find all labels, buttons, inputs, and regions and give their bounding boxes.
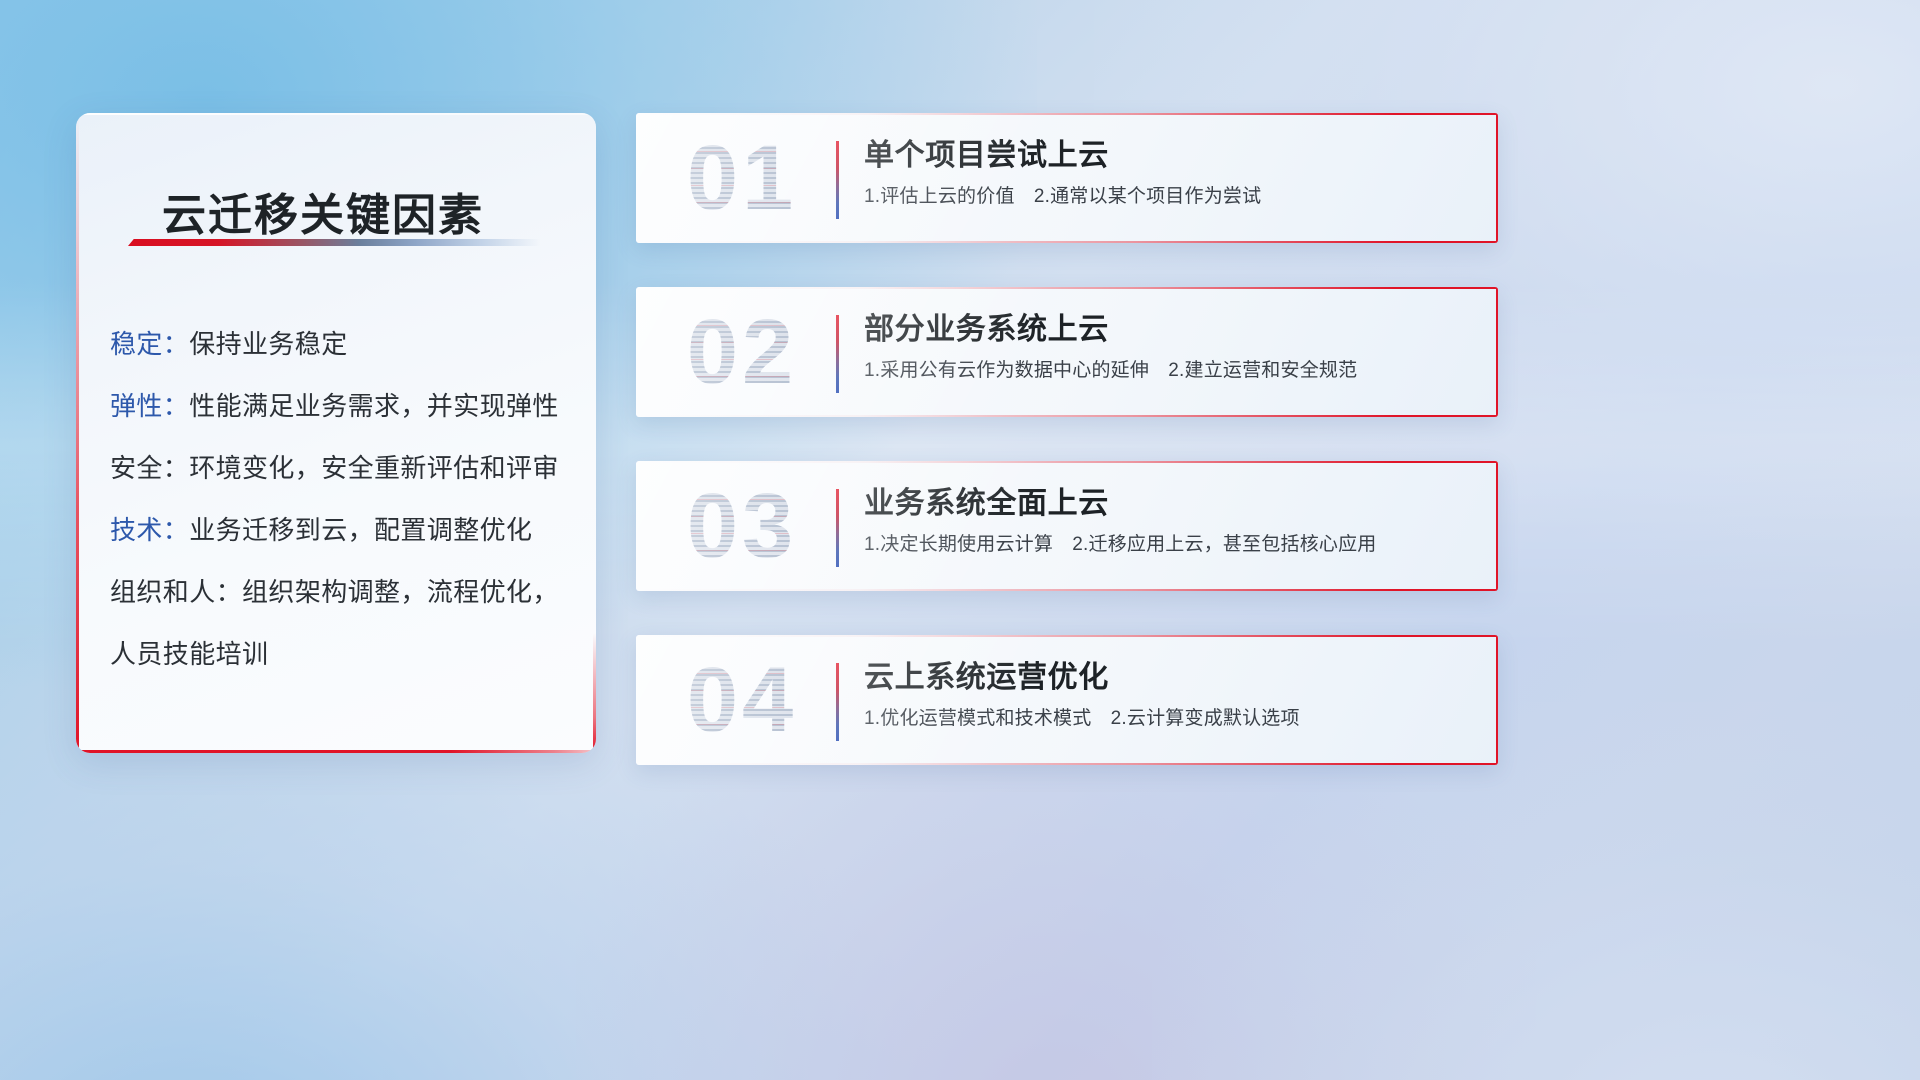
step-card-top-accent bbox=[636, 113, 1498, 115]
step-description: 1.评估上云的价值 2.通常以某个项目作为尝试 bbox=[864, 183, 1478, 211]
slide-stage: 云迁移关键因素 稳定：保持业务稳定弹性：性能满足业务需求，并实现弹性安全：环境变… bbox=[0, 0, 1920, 1080]
key-factor-row: 技术：业务迁移到云，配置调整优化 bbox=[110, 499, 572, 561]
step-description: 1.决定长期使用云计算 2.迁移应用上云，甚至包括核心应用 bbox=[864, 531, 1478, 559]
step-card-top-accent bbox=[636, 635, 1498, 637]
step-text-block: 业务系统全面上云1.决定长期使用云计算 2.迁移应用上云，甚至包括核心应用 bbox=[864, 483, 1478, 559]
step-title: 单个项目尝试上云 bbox=[864, 135, 1478, 177]
panel-right-accent-border bbox=[593, 633, 596, 753]
step-divider-bar bbox=[836, 315, 839, 393]
key-factor-label: 稳定： bbox=[110, 329, 189, 359]
step-card-right-accent bbox=[1496, 287, 1498, 417]
step-number-watermark: 01 bbox=[654, 117, 830, 239]
step-card-bottom-accent bbox=[636, 415, 1498, 417]
migration-step-card[interactable]: 0101单个项目尝试上云1.评估上云的价值 2.通常以某个项目作为尝试 bbox=[636, 113, 1498, 243]
panel-left-accent-border bbox=[76, 113, 79, 753]
panel-top-highlight bbox=[76, 113, 596, 115]
key-factor-text: 人员技能培训 bbox=[110, 639, 268, 669]
key-factors-panel: 云迁移关键因素 稳定：保持业务稳定弹性：性能满足业务需求，并实现弹性安全：环境变… bbox=[76, 113, 596, 753]
step-divider-bar bbox=[836, 489, 839, 567]
key-factor-text: 性能满足业务需求，并实现弹性 bbox=[189, 391, 559, 421]
step-divider-bar bbox=[836, 141, 839, 219]
step-card-top-accent bbox=[636, 461, 1498, 463]
step-text-block: 部分业务系统上云1.采用公有云作为数据中心的延伸 2.建立运营和安全规范 bbox=[864, 309, 1478, 385]
step-card-bottom-accent bbox=[636, 589, 1498, 591]
migration-step-card[interactable]: 0404云上系统运营优化1.优化运营模式和技术模式 2.云计算变成默认选项 bbox=[636, 635, 1498, 765]
step-card-bottom-accent bbox=[636, 241, 1498, 243]
key-factor-label: 组织和人： bbox=[110, 577, 242, 607]
step-title: 业务系统全面上云 bbox=[864, 483, 1478, 525]
step-card-right-accent bbox=[1496, 461, 1498, 591]
key-factor-text: 保持业务稳定 bbox=[189, 329, 347, 359]
migration-steps-list: 0101单个项目尝试上云1.评估上云的价值 2.通常以某个项目作为尝试0202部… bbox=[636, 113, 1498, 765]
key-factor-text: 业务迁移到云，配置调整优化 bbox=[189, 515, 532, 545]
step-description: 1.优化运营模式和技术模式 2.云计算变成默认选项 bbox=[864, 705, 1478, 733]
step-number-watermark: 04 bbox=[654, 639, 830, 761]
step-title: 云上系统运营优化 bbox=[864, 657, 1478, 699]
key-factor-row: 人员技能培训 bbox=[110, 623, 572, 685]
step-card-top-accent bbox=[636, 287, 1498, 289]
step-card-right-accent bbox=[1496, 635, 1498, 765]
key-factor-label: 弹性： bbox=[110, 391, 189, 421]
step-divider-bar bbox=[836, 663, 839, 741]
key-factor-text: 组织架构调整，流程优化， bbox=[242, 577, 559, 607]
page-title: 云迁移关键因素 bbox=[162, 179, 484, 243]
key-factor-row: 稳定：保持业务稳定 bbox=[110, 313, 572, 375]
key-factor-row: 弹性：性能满足业务需求，并实现弹性 bbox=[110, 375, 572, 437]
step-text-block: 单个项目尝试上云1.评估上云的价值 2.通常以某个项目作为尝试 bbox=[864, 135, 1478, 211]
key-factor-label: 安全： bbox=[110, 453, 189, 483]
step-card-right-accent bbox=[1496, 113, 1498, 243]
key-factor-text: 环境变化，安全重新评估和评审 bbox=[189, 453, 559, 483]
step-card-bottom-accent bbox=[636, 763, 1498, 765]
panel-bottom-accent-border bbox=[76, 750, 596, 753]
key-factor-label: 技术： bbox=[110, 515, 189, 545]
migration-step-card[interactable]: 0303业务系统全面上云1.决定长期使用云计算 2.迁移应用上云，甚至包括核心应… bbox=[636, 461, 1498, 591]
step-number-watermark: 02 bbox=[654, 291, 830, 413]
title-underline-rule bbox=[128, 239, 540, 246]
key-factors-list: 稳定：保持业务稳定弹性：性能满足业务需求，并实现弹性安全：环境变化，安全重新评估… bbox=[110, 313, 572, 685]
step-number-watermark: 03 bbox=[654, 465, 830, 587]
step-title: 部分业务系统上云 bbox=[864, 309, 1478, 351]
migration-step-card[interactable]: 0202部分业务系统上云1.采用公有云作为数据中心的延伸 2.建立运营和安全规范 bbox=[636, 287, 1498, 417]
key-factor-row: 组织和人：组织架构调整，流程优化， bbox=[110, 561, 572, 623]
step-text-block: 云上系统运营优化1.优化运营模式和技术模式 2.云计算变成默认选项 bbox=[864, 657, 1478, 733]
key-factor-row: 安全：环境变化，安全重新评估和评审 bbox=[110, 437, 572, 499]
step-description: 1.采用公有云作为数据中心的延伸 2.建立运营和安全规范 bbox=[864, 357, 1478, 385]
